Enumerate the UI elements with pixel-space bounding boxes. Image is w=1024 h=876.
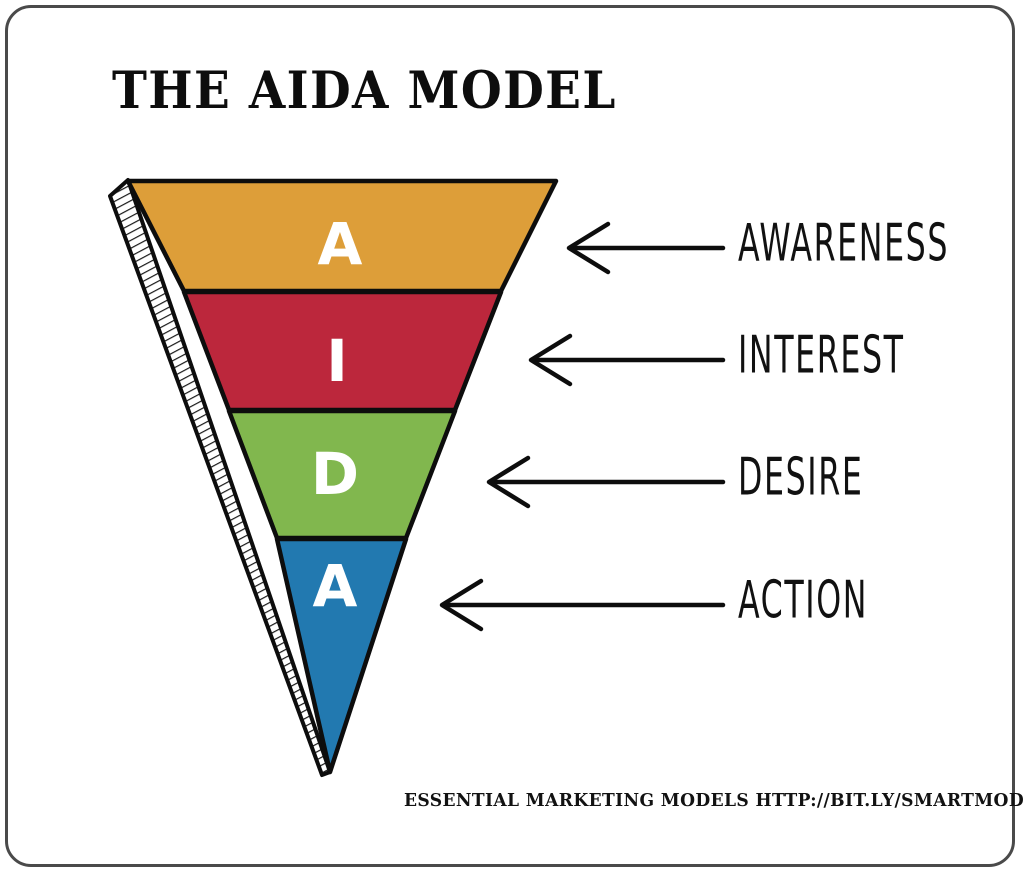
callout-label-interest: INTEREST — [738, 330, 905, 382]
callout-label-awareness: AWARENESS — [738, 218, 949, 270]
arrow-awareness — [569, 224, 723, 272]
band-letter-a-action: A — [313, 552, 358, 620]
callout-label-action: ACTION — [738, 575, 868, 627]
band-letter-d-desire: D — [311, 440, 359, 508]
funnel-graphic: A I D A — [0, 0, 1024, 876]
callout-label-desire: DESIRE — [738, 452, 863, 504]
arrow-interest — [531, 336, 723, 384]
arrow-desire — [489, 458, 723, 506]
footer-attribution: ESSENTIAL MARKETING MODELS HTTP://BIT.LY… — [404, 790, 1024, 811]
band-letter-a-awareness: A — [318, 210, 363, 278]
aida-model-diagram: THE AIDA MODEL A — [0, 0, 1024, 876]
band-letter-i-interest: I — [326, 327, 348, 395]
arrow-action — [442, 581, 723, 629]
